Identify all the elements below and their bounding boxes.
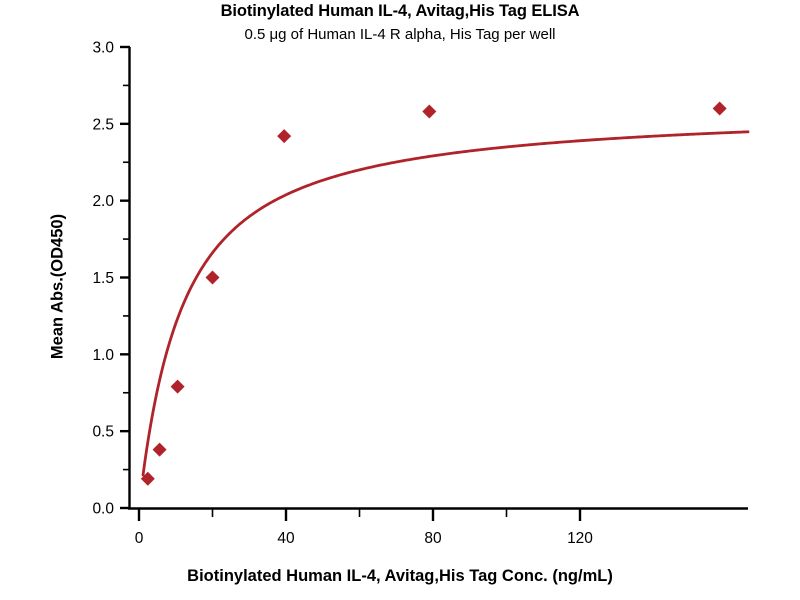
x-tick-label: 80: [424, 530, 442, 547]
elisa-chart-figure: Biotinylated Human IL-4, Avitag,His Tag …: [0, 0, 800, 600]
data-point-markers: [141, 101, 727, 485]
y-tick-label: 3.0: [92, 40, 114, 57]
y-tick-labels: 0.00.51.01.52.02.53.0: [92, 40, 114, 518]
data-point-3: [206, 271, 220, 285]
data-point-4: [277, 129, 291, 143]
plot-area: 0.00.51.01.52.02.53.0 04080120: [0, 0, 800, 600]
data-point-2: [171, 380, 185, 394]
x-tick-label: 120: [567, 530, 593, 547]
binding-curve: [143, 132, 748, 475]
y-tick-label: 0.5: [92, 424, 114, 441]
y-tick-label: 1.5: [92, 270, 114, 287]
y-tick-label: 0.0: [92, 501, 114, 518]
y-tick-label: 2.0: [92, 193, 114, 210]
axes: [128, 47, 748, 509]
data-point-1: [153, 443, 167, 457]
y-tick-label: 2.5: [92, 116, 114, 133]
x-tick-labels: 04080120: [135, 530, 594, 547]
data-point-6: [713, 101, 727, 115]
x-tick-label: 0: [135, 530, 144, 547]
x-minor-ticks: [213, 509, 507, 517]
y-tick-label: 1.0: [92, 347, 114, 364]
data-point-5: [422, 105, 436, 119]
x-tick-label: 40: [277, 530, 295, 547]
